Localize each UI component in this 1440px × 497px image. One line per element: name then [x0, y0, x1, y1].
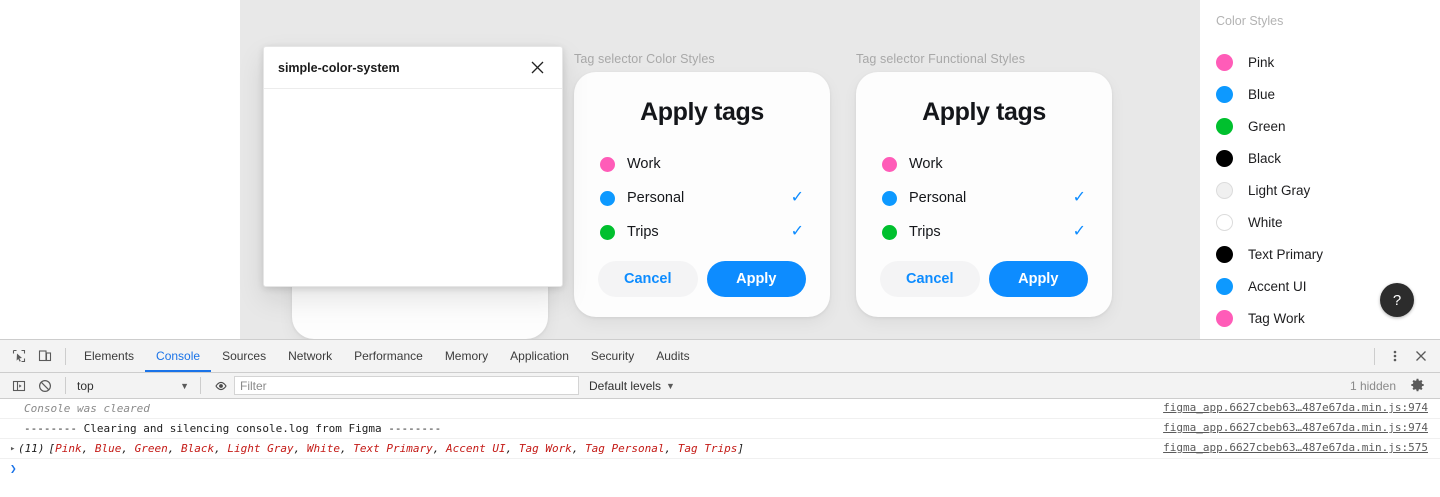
- plugin-modal-header: simple-color-system: [264, 47, 562, 89]
- color-styles-heading: Color Styles: [1216, 14, 1440, 28]
- tag-swatch-pink: [882, 157, 897, 172]
- card-caption: Tag selector Color Styles: [574, 52, 830, 66]
- cancel-button[interactable]: Cancel: [598, 261, 698, 297]
- console-source-link[interactable]: figma_app.6627cbeb63…487e67da.min.js:974: [1163, 401, 1428, 414]
- tab-sources[interactable]: Sources: [211, 340, 277, 372]
- console-filter-bar-right: 1 hidden: [1350, 373, 1434, 399]
- console-sidebar-icon[interactable]: [6, 373, 32, 399]
- tab-network[interactable]: Network: [277, 340, 343, 372]
- tab-elements[interactable]: Elements: [73, 340, 145, 372]
- chevron-down-icon: ▼: [180, 381, 189, 391]
- hidden-messages-count: 1 hidden: [1350, 379, 1396, 393]
- tag-swatch-pink: [600, 157, 615, 172]
- array-length: (11): [18, 442, 45, 455]
- close-icon[interactable]: [1408, 343, 1434, 369]
- array-item: Text Primary: [353, 442, 432, 455]
- tag-row-work[interactable]: Work: [878, 147, 1090, 181]
- color-style-label: Green: [1248, 119, 1286, 134]
- prompt-caret-icon: ❯: [8, 462, 17, 475]
- color-style-label: Accent UI: [1248, 279, 1307, 294]
- tag-swatch-blue: [600, 191, 615, 206]
- gear-icon[interactable]: [1404, 373, 1430, 399]
- array-item: Tag Personal: [585, 442, 664, 455]
- tag-label: Trips: [627, 224, 791, 240]
- chevron-down-icon: ▼: [666, 381, 675, 391]
- divider: [1374, 348, 1375, 365]
- card-actions: Cancel Apply: [596, 261, 808, 297]
- divider: [200, 377, 201, 394]
- console-prompt[interactable]: ❯: [0, 459, 1440, 478]
- color-swatch: [1216, 150, 1233, 167]
- console-message: -------- Clearing and silencing console.…: [8, 422, 441, 435]
- card-caption: Tag selector Functional Styles: [856, 52, 1112, 66]
- color-swatch: [1216, 54, 1233, 71]
- console-row-array[interactable]: ▸ (11)[Pink, Blue, Green, Black, Light G…: [0, 439, 1440, 459]
- array-item: Green: [135, 442, 168, 455]
- apply-button[interactable]: Apply: [707, 261, 807, 297]
- plugin-modal-title: simple-color-system: [278, 61, 526, 75]
- console-filter-input[interactable]: [234, 376, 579, 395]
- apply-tags-card[interactable]: Apply tags Work Personal ✓ Trips ✓: [574, 72, 830, 317]
- color-style-row-pink[interactable]: Pink: [1216, 46, 1440, 78]
- color-style-row-light-gray[interactable]: Light Gray: [1216, 174, 1440, 206]
- color-swatch: [1216, 246, 1233, 263]
- devtools-panel: Elements Console Sources Network Perform…: [0, 339, 1440, 497]
- tag-check-icon: ✓: [1073, 224, 1086, 240]
- card-title: Apply tags: [596, 98, 808, 127]
- cancel-button[interactable]: Cancel: [880, 261, 980, 297]
- color-style-row-black[interactable]: Black: [1216, 142, 1440, 174]
- divider: [65, 377, 66, 394]
- array-item: Accent UI: [446, 442, 506, 455]
- tag-row-work[interactable]: Work: [596, 147, 808, 181]
- array-item: Light Gray: [227, 442, 293, 455]
- console-row-log: -------- Clearing and silencing console.…: [0, 419, 1440, 439]
- log-levels-selector[interactable]: Default levels ▼: [589, 379, 675, 393]
- color-style-label: Tag Work: [1248, 311, 1305, 326]
- tag-label: Work: [627, 156, 804, 172]
- tab-memory[interactable]: Memory: [434, 340, 499, 372]
- tag-selector-card-color-styles[interactable]: Tag selector Color Styles Apply tags Wor…: [574, 52, 830, 317]
- tab-security[interactable]: Security: [580, 340, 645, 372]
- color-style-label: Text Primary: [1248, 247, 1323, 262]
- apply-tags-card[interactable]: Apply tags Work Personal ✓ Trips ✓: [856, 72, 1112, 317]
- color-swatch: [1216, 278, 1233, 295]
- color-style-label: Blue: [1248, 87, 1275, 102]
- color-style-row-blue[interactable]: Blue: [1216, 78, 1440, 110]
- tag-label: Work: [909, 156, 1086, 172]
- console-output[interactable]: Console was cleared figma_app.6627cbeb63…: [0, 399, 1440, 497]
- console-row-cleared: Console was cleared figma_app.6627cbeb63…: [0, 399, 1440, 419]
- tag-label: Trips: [909, 224, 1073, 240]
- color-style-label: Light Gray: [1248, 183, 1310, 198]
- close-icon[interactable]: [526, 57, 548, 79]
- card-actions: Cancel Apply: [878, 261, 1090, 297]
- color-swatch: [1216, 118, 1233, 135]
- color-style-row-green[interactable]: Green: [1216, 110, 1440, 142]
- apply-button[interactable]: Apply: [989, 261, 1089, 297]
- devtools-tabbar-right: [1367, 343, 1434, 369]
- help-button[interactable]: ?: [1380, 283, 1414, 317]
- tag-row-trips[interactable]: Trips ✓: [596, 215, 808, 249]
- color-swatch: [1216, 182, 1233, 199]
- execution-context-selector[interactable]: top ▼: [73, 376, 193, 395]
- console-array-message: (11)[Pink, Blue, Green, Black, Light Gra…: [18, 442, 744, 455]
- log-levels-value: Default levels: [589, 379, 661, 393]
- plugin-modal[interactable]: simple-color-system: [263, 46, 563, 287]
- devtools-tabbar: Elements Console Sources Network Perform…: [0, 340, 1440, 373]
- more-options-icon[interactable]: [1382, 343, 1408, 369]
- array-item: Blue: [95, 442, 122, 455]
- execution-context-value: top: [77, 379, 180, 393]
- array-item: Pink: [55, 442, 82, 455]
- console-source-link[interactable]: figma_app.6627cbeb63…487e67da.min.js:974: [1163, 421, 1428, 434]
- tag-swatch-green: [600, 225, 615, 240]
- color-style-row-white[interactable]: White: [1216, 206, 1440, 238]
- color-swatch: [1216, 86, 1233, 103]
- color-swatch: [1216, 310, 1233, 327]
- divider: [65, 348, 66, 365]
- color-style-label: White: [1248, 215, 1283, 230]
- console-source-link[interactable]: figma_app.6627cbeb63…487e67da.min.js:575: [1163, 441, 1428, 454]
- array-item: Tag Work: [519, 442, 572, 455]
- tag-row-personal[interactable]: Personal ✓: [596, 181, 808, 215]
- plugin-modal-body: [264, 89, 562, 286]
- color-swatch: [1216, 214, 1233, 231]
- array-item: Tag Trips: [678, 442, 738, 455]
- inspect-element-icon[interactable]: [6, 343, 32, 369]
- color-style-label: Black: [1248, 151, 1281, 166]
- color-style-label: Pink: [1248, 55, 1274, 70]
- tag-check-icon: ✓: [791, 190, 804, 206]
- tag-label: Personal: [909, 190, 1073, 206]
- clear-console-icon[interactable]: [32, 373, 58, 399]
- tab-audits[interactable]: Audits: [645, 340, 700, 372]
- tag-row-trips[interactable]: Trips ✓: [878, 215, 1090, 249]
- device-toolbar-icon[interactable]: [32, 343, 58, 369]
- tab-application[interactable]: Application: [499, 340, 580, 372]
- tab-console[interactable]: Console: [145, 340, 211, 372]
- bracket-close: ]: [737, 442, 744, 455]
- array-item: Black: [181, 442, 214, 455]
- card-title: Apply tags: [878, 98, 1090, 127]
- tag-swatch-blue: [882, 191, 897, 206]
- tag-selector-card-functional-styles[interactable]: Tag selector Functional Styles Apply tag…: [856, 52, 1112, 317]
- console-message: Console was cleared: [8, 402, 150, 415]
- tag-check-icon: ✓: [791, 224, 804, 240]
- console-filter-bar: top ▼ Default levels ▼ 1 hidden: [0, 373, 1440, 399]
- tag-check-icon: ✓: [1073, 190, 1086, 206]
- tag-label: Personal: [627, 190, 791, 206]
- expand-arrow-icon[interactable]: ▸: [8, 444, 18, 454]
- tab-performance[interactable]: Performance: [343, 340, 434, 372]
- color-style-row-text-primary[interactable]: Text Primary: [1216, 238, 1440, 270]
- app-root: Tag selector Color Styles Apply tags Wor…: [0, 0, 1440, 497]
- live-expression-icon[interactable]: [208, 373, 234, 399]
- tag-swatch-green: [882, 225, 897, 240]
- browser-page-area: Tag selector Color Styles Apply tags Wor…: [0, 0, 1440, 339]
- array-item: White: [307, 442, 340, 455]
- tag-row-personal[interactable]: Personal ✓: [878, 181, 1090, 215]
